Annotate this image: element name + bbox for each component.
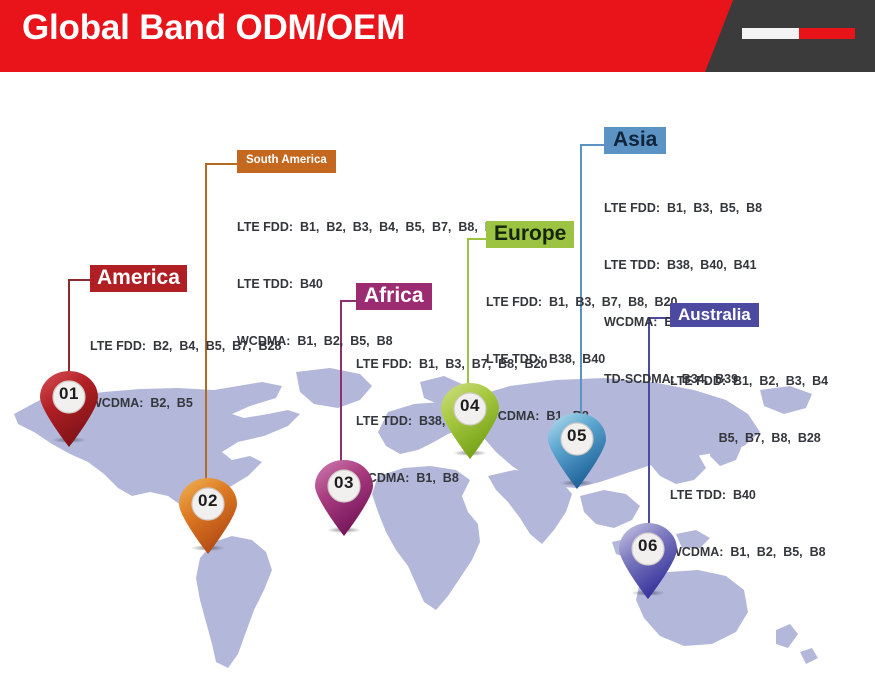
region-label-america: America [90,265,187,292]
band-line: WCDMA: B2, B5 [90,394,281,413]
map-pin-01[interactable]: 01 [38,370,100,448]
connector-america-horizontal [68,279,91,281]
pin-number-02: 02 [177,491,239,511]
connector-south-america-horizontal [205,163,237,165]
region-label-australia: Australia [670,303,759,327]
pin-number-05: 05 [546,426,608,446]
region-label-europe: Europe [486,221,574,248]
band-line: LTE FDD: B1, B2, B3, B4, B5, B7, B8, B28 [237,218,508,237]
map-pin-04[interactable]: 04 [439,382,501,460]
region-label-africa: Africa [356,283,432,310]
region-bands-australia: LTE FDD: B1, B2, B3, B4 B5, B7, B8, B28 … [670,334,828,600]
map-pin-05[interactable]: 05 [546,412,608,490]
connector-asia-horizontal [580,144,604,146]
header-banner: Global Band ODM/OEM [0,0,875,72]
pin-number-01: 01 [38,384,100,404]
pin-number-06: 06 [617,536,679,556]
bar-segment-red [799,28,856,39]
band-line: LTE FDD: B1, B2, B3, B4 [670,372,828,391]
header-underline [0,72,875,75]
map-pin-03[interactable]: 03 [313,459,375,537]
map-pin-06[interactable]: 06 [617,522,679,600]
band-line: LTE TDD: B38, B40, B41 [604,256,762,275]
region-block-australia: Australia LTE FDD: B1, B2, B3, B4 B5, B7… [670,303,828,600]
map-pin-02[interactable]: 02 [177,477,239,555]
bar-segment-white [742,28,799,39]
infographic-page: Global Band ODM/OEM [0,0,875,676]
pin-number-03: 03 [313,473,375,493]
band-line: LTE FDD: B1, B3, B5, B8 [604,199,762,218]
band-line: B5, B7, B8, B28 [670,429,828,448]
band-line: WCDMA: B1, B8 [356,469,547,488]
pin-number-04: 04 [439,396,501,416]
page-title: Global Band ODM/OEM [22,8,405,48]
white-red-bar-icon [742,28,855,39]
region-label-asia: Asia [604,127,666,154]
band-line: LTE TDD: B40 [670,486,828,505]
band-line: WCDMA: B1, B2, B5, B8 [670,543,828,562]
region-label-south-america: South America [237,150,336,173]
